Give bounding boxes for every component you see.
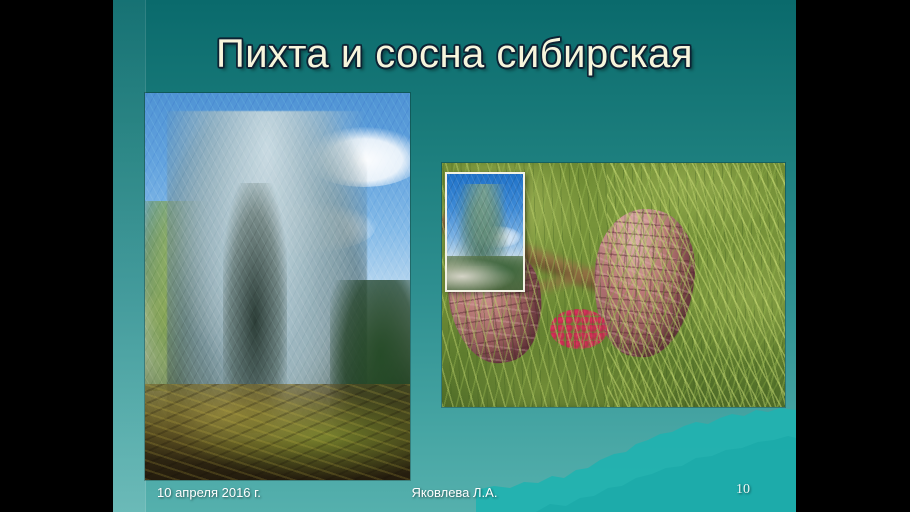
slide-title: Пихта и сосна сибирская — [113, 30, 796, 78]
cones-photo-needles-right — [607, 163, 785, 407]
fir-tree-photo — [145, 93, 410, 480]
inset-photo-ground — [447, 256, 523, 290]
screen-stage: Пихта и сосна сибирская — [0, 0, 910, 512]
footer-author: Яковлева Л.А. — [113, 485, 796, 500]
fir-photo-ground-texture — [145, 384, 410, 480]
presentation-slide: Пихта и сосна сибирская — [113, 0, 796, 512]
footer-page-number: 10 — [736, 482, 750, 498]
fir-inset-photo — [445, 172, 525, 292]
